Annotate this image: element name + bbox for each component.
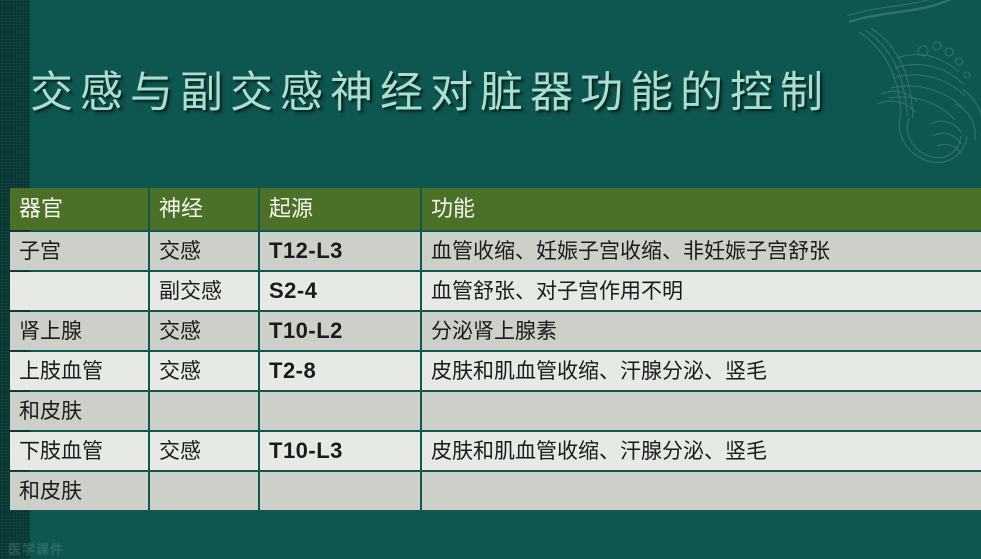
table-body: 子宫 交感 T12-L3 血管收缩、妊娠子宫收缩、非妊娠子宫舒张 副交感 S2-… [10,232,981,510]
table: 器官 神经 起源 功能 子宫 交感 T12-L3 血管收缩、妊娠子宫收缩、非妊娠… [8,186,981,512]
cell-organ: 子宫 [10,232,148,270]
cell-function: 分泌肾上腺素 [422,312,981,350]
cell-organ: 和皮肤 [10,472,148,510]
cell-function: 血管舒张、对子宫作用不明 [422,272,981,310]
cell-function [422,472,981,510]
table-row: 子宫 交感 T12-L3 血管收缩、妊娠子宫收缩、非妊娠子宫舒张 [10,232,981,270]
cell-nerve: 交感 [150,352,258,390]
cell-function: 皮肤和肌血管收缩、汗腺分泌、竖毛 [422,432,981,470]
cell-nerve: 交感 [150,232,258,270]
cell-nerve [150,472,258,510]
cell-origin: S2-4 [260,272,420,310]
cell-origin: T2-8 [260,352,420,390]
cell-origin: T12-L3 [260,232,420,270]
cell-organ: 肾上腺 [10,312,148,350]
cell-origin: T10-L2 [260,312,420,350]
slide-canvas: 交感与副交感神经对脏器功能的控制 器官 神经 起源 功能 子宫 交 [0,0,981,559]
cell-organ: 上肢血管 [10,352,148,390]
column-header-function: 功能 [422,188,981,230]
column-header-organ: 器官 [10,188,148,230]
table-header-row: 器官 神经 起源 功能 [10,188,981,230]
column-header-origin: 起源 [260,188,420,230]
table-row: 和皮肤 [10,392,981,430]
cell-function: 血管收缩、妊娠子宫收缩、非妊娠子宫舒张 [422,232,981,270]
cell-nerve: 交感 [150,432,258,470]
cell-organ: 和皮肤 [10,392,148,430]
cell-function [422,392,981,430]
column-header-nerve: 神经 [150,188,258,230]
table-row: 肾上腺 交感 T10-L2 分泌肾上腺素 [10,312,981,350]
cell-nerve [150,392,258,430]
cell-origin [260,392,420,430]
table-row: 下肢血管 交感 T10-L3 皮肤和肌血管收缩、汗腺分泌、竖毛 [10,432,981,470]
page-title: 交感与副交感神经对脏器功能的控制 [30,58,920,128]
cell-origin: T10-L3 [260,432,420,470]
cell-nerve: 交感 [150,312,258,350]
organ-function-table: 器官 神经 起源 功能 子宫 交感 T12-L3 血管收缩、妊娠子宫收缩、非妊娠… [8,186,973,512]
table-row: 和皮肤 [10,472,981,510]
table-row: 上肢血管 交感 T2-8 皮肤和肌血管收缩、汗腺分泌、竖毛 [10,352,981,390]
cell-origin [260,472,420,510]
cell-organ [10,272,148,310]
cell-function: 皮肤和肌血管收缩、汗腺分泌、竖毛 [422,352,981,390]
cell-nerve: 副交感 [150,272,258,310]
table-row: 副交感 S2-4 血管舒张、对子宫作用不明 [10,272,981,310]
cell-organ: 下肢血管 [10,432,148,470]
